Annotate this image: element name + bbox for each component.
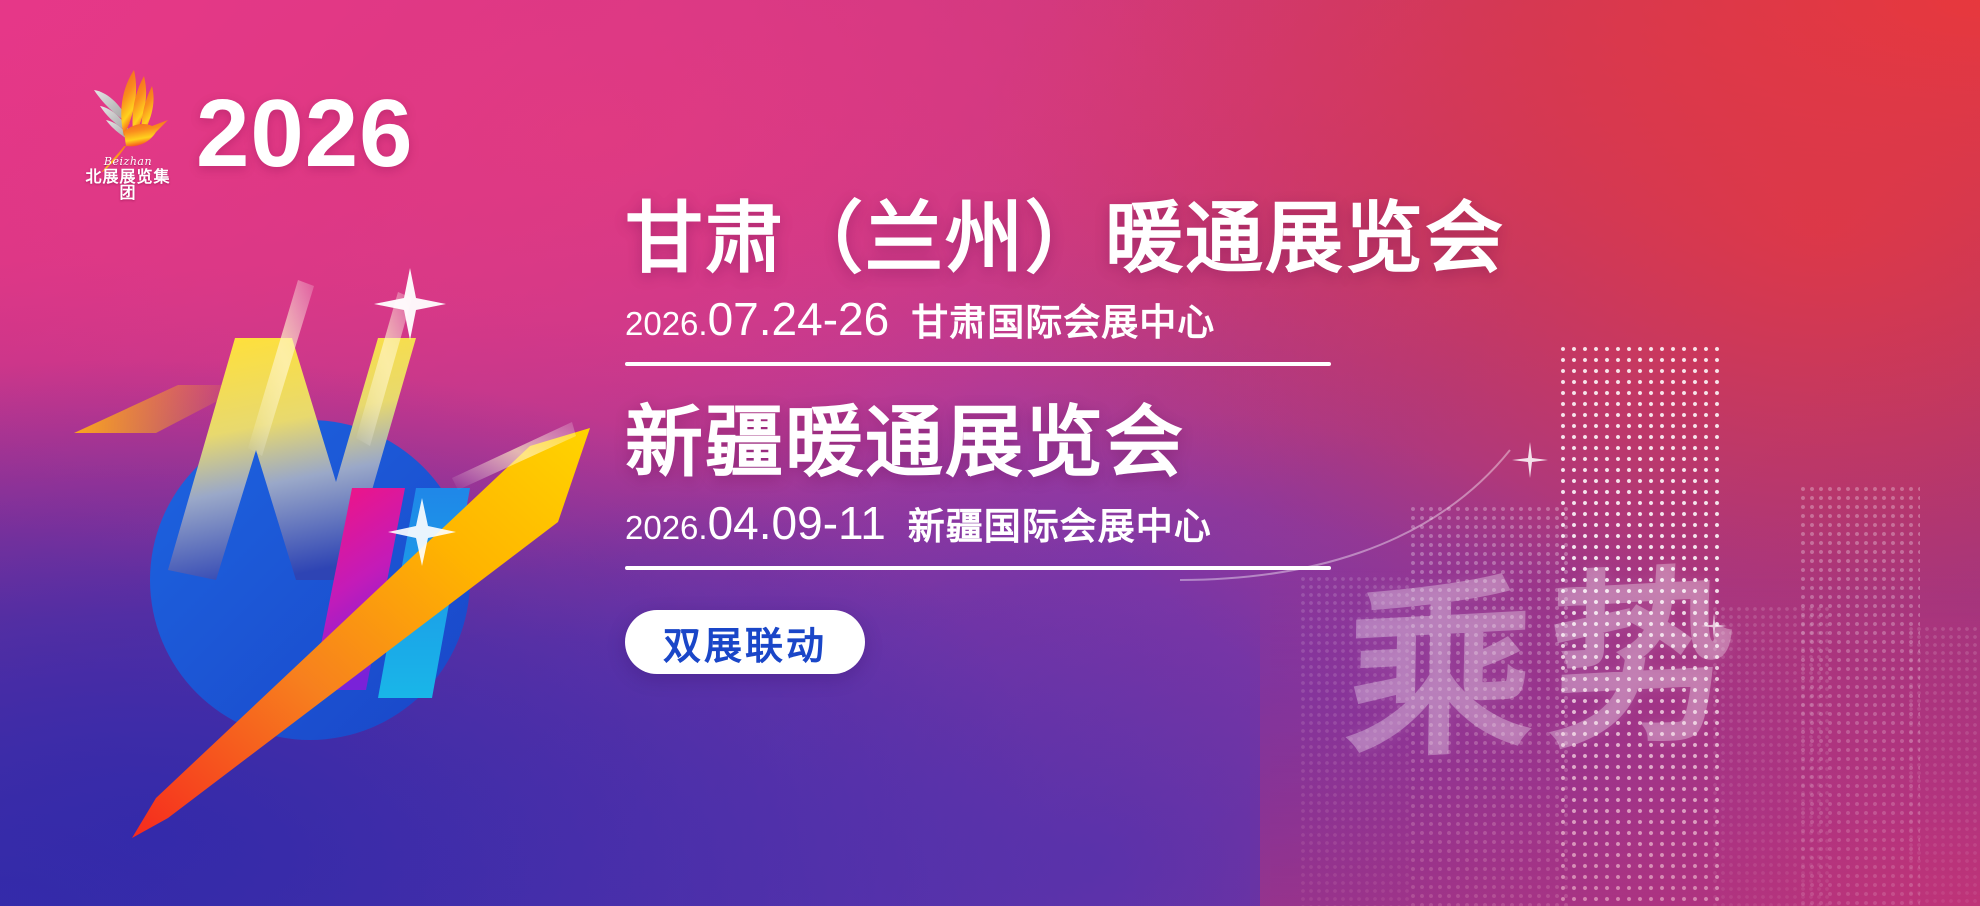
sparkle-icon [1698,610,1730,642]
logo-script-text: Beizhan [78,156,178,167]
logo-caption: Beizhan 北展展览集团 [78,156,178,201]
event-date-year: 2026. [625,509,708,546]
sparkle-icon [374,268,456,566]
event-venue: 甘肃国际会展中心 [911,304,1215,341]
skyline-tower [1560,346,1722,906]
event-subline: 2026.07.24-26 甘肃国际会展中心 [625,296,1465,342]
skyline-tower [1712,606,1832,906]
section-divider [625,362,1331,366]
section-divider [625,566,1331,570]
sparkle-icon [1510,440,1550,480]
event-block-xinjiang: 新疆暖通展览会 2026.04.09-11 新疆国际会展中心 [625,400,1465,570]
event-date-rest: 07.24-26 [708,293,890,345]
brand-logo-block[interactable]: Beizhan 北展展览集团 2026 [78,62,414,197]
event-block-gansu: 甘肃（兰州）暖通展览会 2026.07.24-26 甘肃国际会展中心 [625,196,1465,366]
year-label: 2026 [196,86,414,182]
dual-expo-badge[interactable]: 双展联动 [625,610,865,674]
exhibition-banner: 乘势 [0,0,1980,906]
event-date: 2026.04.09-11 [625,500,886,546]
phoenix-bird-logo: Beizhan 北展展览集团 [78,62,178,197]
event-subline: 2026.04.09-11 新疆国际会展中心 [625,500,1465,546]
abstract-n-arrow-mark [60,250,600,890]
event-title: 新疆暖通展览会 [625,400,1465,484]
event-venue: 新疆国际会展中心 [908,508,1212,545]
event-date-rest: 04.09-11 [708,497,886,549]
logo-chinese-text: 北展展览集团 [78,169,178,201]
event-date-year: 2026. [625,305,708,342]
event-info-panel: 甘肃（兰州）暖通展览会 2026.07.24-26 甘肃国际会展中心 新疆暖通展… [625,196,1465,674]
skyline-tower [1800,486,1920,906]
skyline-tower [1908,626,1980,906]
event-date: 2026.07.24-26 [625,296,889,342]
event-title: 甘肃（兰州）暖通展览会 [625,196,1465,280]
